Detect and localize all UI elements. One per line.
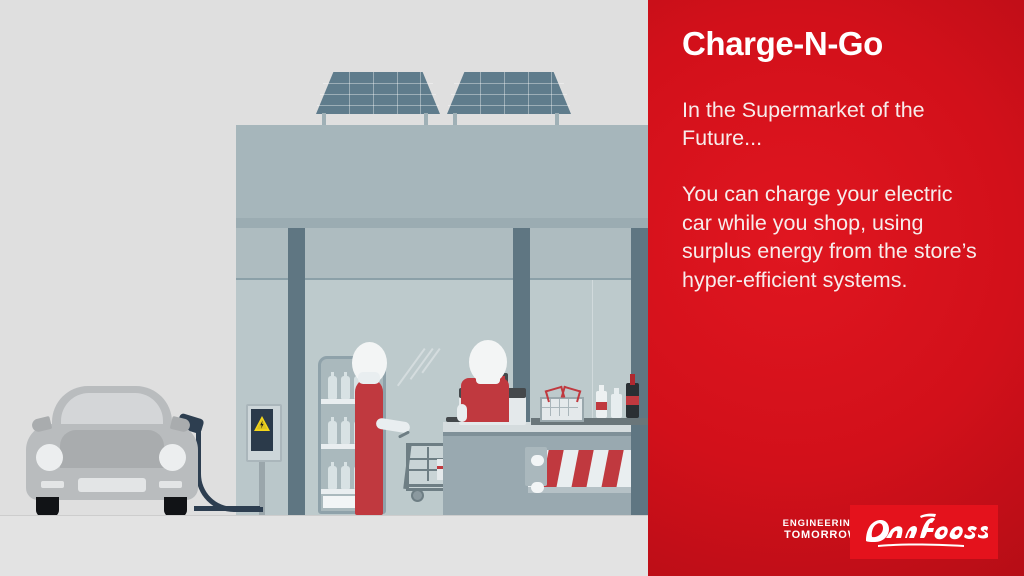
illustration-panel	[0, 0, 648, 576]
car-hood-panel	[60, 430, 164, 468]
cooler-bottle	[328, 421, 337, 444]
tagline-line-1: ENGINEERING	[764, 518, 859, 529]
cooler-bottle	[341, 421, 350, 444]
cooler-bottle	[341, 466, 350, 489]
ground-plane	[0, 515, 648, 576]
car-grille	[78, 478, 146, 492]
cooler-bottle	[341, 376, 350, 399]
store-column-edge	[631, 228, 648, 515]
store-column-left	[288, 228, 305, 515]
solar-panel-left	[316, 72, 440, 114]
danfoss-logo	[850, 505, 998, 559]
car-wheel-right	[164, 497, 187, 517]
store-fascia	[236, 125, 648, 228]
cart-wheel-front	[411, 489, 424, 502]
page-title: Charge-N-Go	[682, 25, 1002, 63]
brand-tagline: ENGINEERING TOMORROW	[764, 518, 859, 542]
car-wheel-left	[36, 497, 59, 517]
solar-panel-right	[447, 72, 571, 114]
shelf-bottle-clear	[611, 394, 622, 418]
car-headlight-left	[36, 444, 63, 471]
panel-body-text: You can charge your electric car while y…	[682, 180, 982, 294]
store-fascia-shadow	[236, 218, 648, 228]
cashier-torso	[461, 378, 509, 422]
shopper-torso	[355, 378, 383, 515]
car-headlight-right	[159, 444, 186, 471]
content-panel: Charge-N-Go In the Supermarket of the Fu…	[648, 0, 1024, 576]
cooler-bottle	[328, 466, 337, 489]
danfoss-wordmark-icon	[860, 512, 988, 552]
cooler-bottle	[328, 376, 337, 399]
lower-shelf-left	[525, 447, 547, 486]
panel-subtitle: In the Supermarket of the Future...	[682, 96, 972, 153]
charging-cable	[196, 426, 263, 512]
tagline-line-2: TOMORROW	[764, 529, 859, 542]
slide-root: Charge-N-Go In the Supermarket of the Fu…	[0, 0, 1024, 576]
